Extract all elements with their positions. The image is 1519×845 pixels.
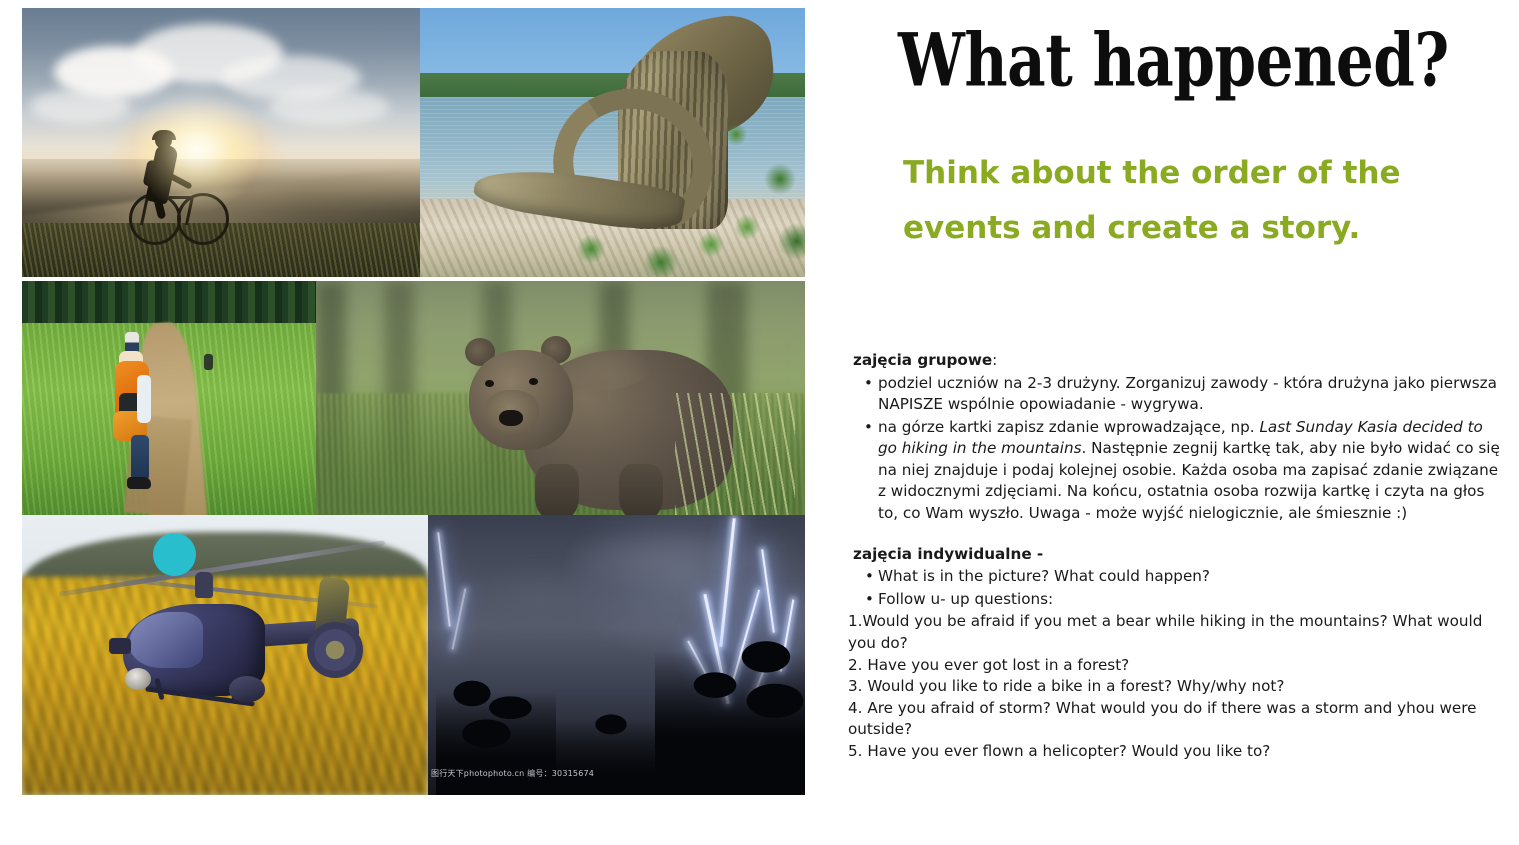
list-item: Follow u- up questions: <box>878 589 1505 611</box>
helicopter-figure <box>79 560 379 750</box>
photo-hiker-meadow <box>22 281 316 515</box>
question-item: 4. Are you afraid of storm? What would y… <box>848 698 1505 741</box>
question-item: 1.Would you be afraid if you met a bear … <box>848 611 1505 654</box>
foreground-weeds <box>675 393 795 515</box>
photo-driftwood-lake <box>420 8 805 277</box>
question-item: 5. Have you ever flown a helicopter? Wou… <box>848 741 1505 763</box>
hiker-with-backpack <box>107 351 169 499</box>
photo-helicopter-forest <box>22 515 428 795</box>
followup-question-list: 1.Would you be afraid if you met a bear … <box>845 611 1505 762</box>
page-subtitle: Think about the order of the events and … <box>903 146 1403 256</box>
question-item: 2. Have you ever got lost in a forest? <box>848 655 1505 677</box>
bullet-text: What is in the picture? What could happe… <box>878 567 1210 585</box>
photo-cyclist-sunset <box>22 8 420 277</box>
photo-brown-bear <box>316 281 805 515</box>
tree-silhouette-right <box>655 638 805 795</box>
group-section-heading: zajęcia grupowe: <box>845 350 1505 372</box>
distant-hiker <box>204 354 213 370</box>
page-title: What happened? <box>898 22 1449 99</box>
collage-row-1 <box>22 8 805 277</box>
group-heading-colon: : <box>992 351 997 369</box>
conifer-treeline <box>22 281 316 328</box>
individual-section-heading: zajęcia indywidualne - <box>845 544 1505 566</box>
question-item: 3. Would you like to ride a bike in a fo… <box>848 676 1505 698</box>
section-gap <box>845 526 1505 544</box>
group-heading-label: zajęcia grupowe <box>853 351 992 369</box>
bullet-text-before: na górze kartki zapisz zdanie wprowadzaj… <box>878 418 1259 436</box>
list-item: What is in the picture? What could happe… <box>878 566 1505 588</box>
foliage-bottom <box>551 195 751 277</box>
photo-lightning-storm: 图行天下photophoto.cn 编号：30315674 <box>428 515 805 795</box>
bullet-text: podziel uczniów na 2-3 drużyny. Zorganiz… <box>878 374 1497 414</box>
image-collage: 图行天下photophoto.cn 编号：30315674 <box>22 8 805 795</box>
stock-photo-watermark: 图行天下photophoto.cn 编号：30315674 <box>431 768 594 779</box>
group-bullet-list: podziel uczniów na 2-3 drużyny. Zorganiz… <box>845 373 1505 525</box>
collage-row-3: 图行天下photophoto.cn 编号：30315674 <box>22 515 805 795</box>
bullet-text: Follow u- up questions: <box>878 590 1053 608</box>
list-item: na górze kartki zapisz zdanie wprowadzaj… <box>878 417 1505 525</box>
list-item: podziel uczniów na 2-3 drużyny. Zorganiz… <box>878 373 1505 416</box>
instructions-body: zajęcia grupowe: podziel uczniów na 2-3 … <box>845 350 1505 762</box>
individual-bullet-list: What is in the picture? What could happe… <box>845 566 1505 610</box>
collage-row-2 <box>22 281 805 515</box>
tree-silhouette-middle <box>556 711 666 795</box>
sun-flare <box>22 8 420 277</box>
cyan-ellipse-overlay[interactable] <box>153 533 196 576</box>
text-panel: What happened? Think about the order of … <box>845 0 1519 845</box>
